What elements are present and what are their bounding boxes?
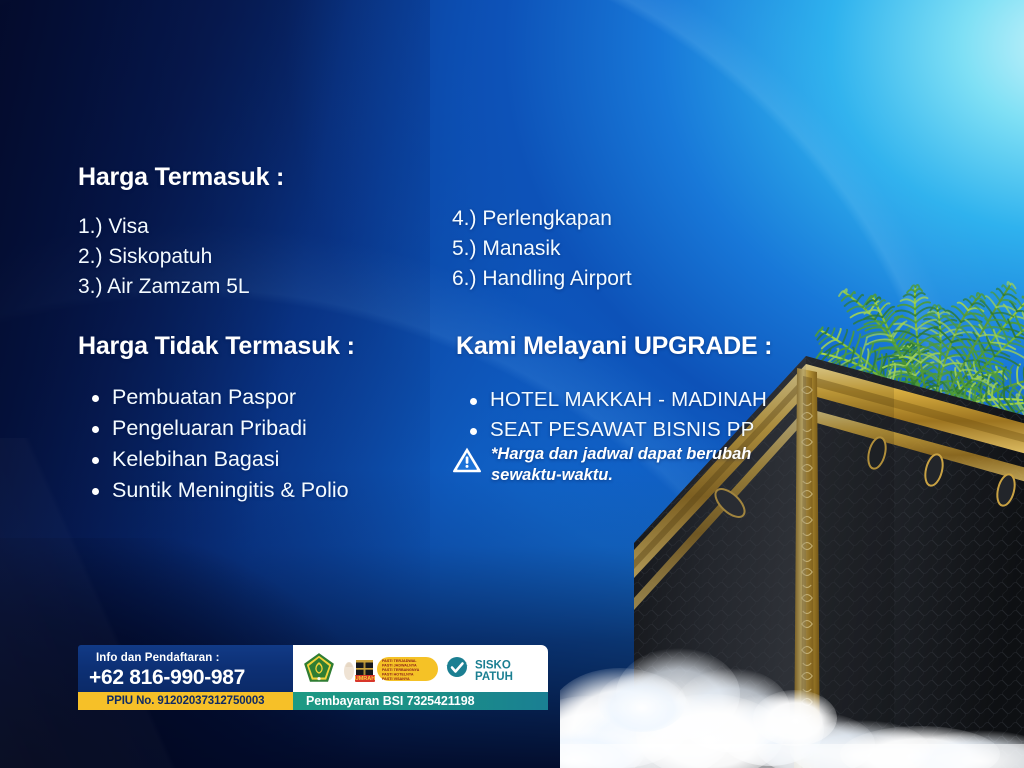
footer-contact-bar: Info dan Pendaftaran : +62 816-990-987	[78, 645, 548, 710]
pasti-umrah-logo: UMRAH PASTI TERJADWAL PASTI JADWALNYA PA…	[342, 653, 438, 685]
footer-info-block: Info dan Pendaftaran : +62 816-990-987	[78, 645, 293, 692]
footer-info-label: Info dan Pendaftaran :	[96, 652, 220, 664]
included-item: 5.) Manasik	[452, 234, 632, 264]
included-item: 4.) Perlengkapan	[452, 204, 632, 234]
footer-ppiu-text: PPIU No. 91202037312750003	[107, 695, 265, 707]
svg-text:PASTI JADWALNYA: PASTI JADWALNYA	[382, 663, 417, 667]
svg-text:PASTI TERBANGNYA: PASTI TERBANGNYA	[382, 668, 420, 672]
included-item: 1.) Visa	[78, 212, 284, 242]
included-item: 3.) Air Zamzam 5L	[78, 272, 284, 302]
footer-payment-bar: Pembayaran BSI 7325421198	[293, 692, 548, 710]
section-upgrade: Kami Melayani UPGRADE : HOTEL MAKKAH - M…	[456, 334, 772, 445]
note-text: *Harga dan jadwal dapat berubah sewaktu-…	[491, 444, 812, 486]
footer-logo-panel: UMRAH PASTI TERJADWAL PASTI JADWALNYA PA…	[293, 645, 548, 692]
upgrade-list: HOTEL MAKKAH - MADINAH SEAT PESAWAT BISN…	[456, 385, 772, 445]
sisko-logo-text-1: SISKO	[475, 659, 511, 671]
svg-text:PASTI HOTELNYA: PASTI HOTELNYA	[382, 672, 414, 676]
list-item: HOTEL MAKKAH - MADINAH	[490, 385, 772, 415]
footer-phone[interactable]: +62 816-990-987	[89, 666, 245, 690]
list-item: Pembuatan Paspor	[112, 382, 355, 413]
footer-payment-text: Pembayaran BSI 7325421198	[306, 694, 474, 708]
svg-text:PASTI VISANYA: PASTI VISANYA	[382, 677, 410, 681]
footer-ppiu-bar: PPIU No. 91202037312750003	[78, 692, 293, 710]
list-item: SEAT PESAWAT BISNIS PP	[490, 415, 772, 445]
warning-triangle-icon	[452, 446, 482, 473]
included-right-list: 4.) Perlengkapan 5.) Manasik 6.) Handlin…	[452, 204, 632, 294]
price-change-note: *Harga dan jadwal dapat berubah sewaktu-…	[452, 444, 812, 486]
excluded-title: Harga Tidak Termasuk :	[78, 334, 355, 359]
included-left-list: 1.) Visa 2.) Siskopatuh 3.) Air Zamzam 5…	[78, 212, 284, 302]
list-item: Pengeluaran Pribadi	[112, 413, 355, 444]
svg-text:PASTI TERJADWAL: PASTI TERJADWAL	[382, 659, 417, 663]
section-included: Harga Termasuk : 1.) Visa 2.) Siskopatuh…	[78, 165, 284, 302]
svg-text:UMRAH: UMRAH	[355, 676, 375, 682]
upgrade-title: Kami Melayani UPGRADE :	[456, 334, 772, 359]
list-item: Suntik Meningitis & Polio	[112, 475, 355, 506]
sisko-patuh-logo: SISKO PATUH	[444, 654, 540, 684]
excluded-list: Pembuatan Paspor Pengeluaran Pribadi Kel…	[78, 382, 355, 506]
included-item: 2.) Siskopatuh	[78, 242, 284, 272]
kemenag-logo	[302, 652, 336, 686]
included-title: Harga Termasuk :	[78, 165, 284, 190]
sisko-logo-text-2: PATUH	[475, 671, 513, 683]
section-excluded: Harga Tidak Termasuk : Pembuatan Paspor …	[78, 334, 355, 506]
list-item: Kelebihan Bagasi	[112, 444, 355, 475]
flyer-content: Harga Termasuk : 1.) Visa 2.) Siskopatuh…	[0, 0, 1024, 768]
included-item: 6.) Handling Airport	[452, 264, 632, 294]
flyer-canvas: Harga Termasuk : 1.) Visa 2.) Siskopatuh…	[0, 0, 1024, 768]
